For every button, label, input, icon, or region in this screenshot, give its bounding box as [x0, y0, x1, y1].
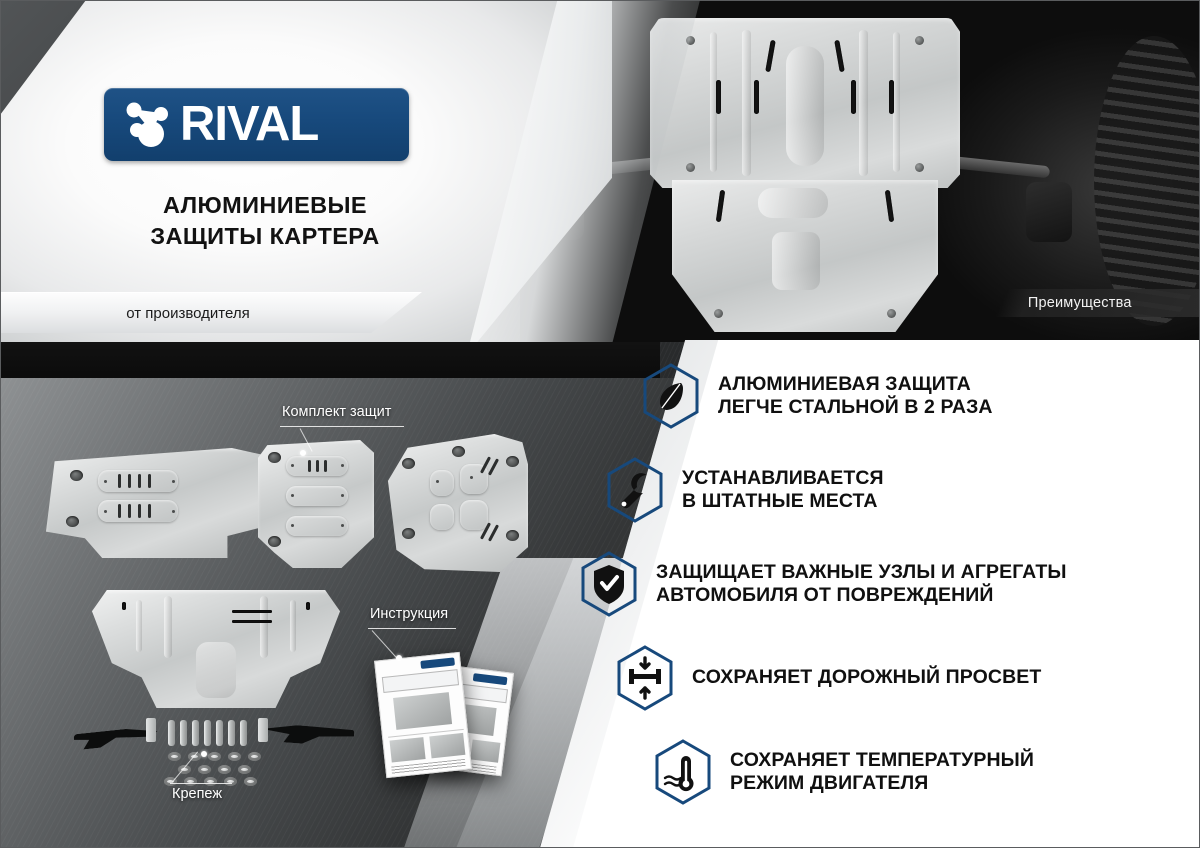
knuckle-right: [1026, 182, 1072, 242]
rival-logo: RIVAL: [104, 88, 409, 161]
header-divider-bar: [0, 342, 660, 380]
installed-skid-plate-rear: [672, 180, 938, 332]
advantage-text-clearance: СОХРАНЯЕТ ДОРОЖНЫЙ ПРОСВЕТ: [692, 666, 1041, 689]
installed-skid-plate-front: [650, 18, 960, 188]
advantage-line-1: ЗАЩИЩАЕТ ВАЖНЫЕ УЗЛЫ И АГРЕГАТЫ: [656, 561, 1067, 584]
promo-banner: Преимущества RIVAL АЛЮМИНИЕВЫЕ ЗАЩИТЫ: [0, 0, 1200, 848]
tyre-detail: [1094, 36, 1200, 326]
skid-plate-large-left: [46, 448, 262, 558]
advantage-line-2: В ШТАТНЫЕ МЕСТА: [682, 490, 884, 513]
callout-instruction-label: Инструкция: [370, 606, 448, 622]
advantage-line-2: РЕЖИМ ДВИГАТЕЛЯ: [730, 772, 1034, 795]
callout-fasteners-label: Крепеж: [172, 786, 222, 802]
vehicle-underbody-photo: Преимущества: [520, 0, 1200, 342]
advantage-item-protection: ЗАЩИЩАЕТ ВАЖНЫЕ УЗЛЫ И АГРЕГАТЫ АВТОМОБИ…: [578, 550, 1200, 618]
subtitle-text: от производителя: [0, 305, 376, 322]
advantage-text-protection: ЗАЩИЩАЕТ ВАЖНЫЕ УЗЛЫ И АГРЕГАТЫ АВТОМОБИ…: [656, 561, 1067, 608]
advantage-line-2: АВТОМОБИЛЯ ОТ ПОВРЕЖДЕНИЙ: [656, 584, 1067, 607]
molecule-icon: [120, 97, 178, 153]
advantage-item-weight: АЛЮМИНИЕВАЯ ЗАЩИТА ЛЕГЧЕ СТАЛЬНОЙ В 2 РА…: [640, 362, 1200, 430]
rival-logo-text: RIVAL: [180, 100, 318, 149]
skid-plate-main-bottom: [92, 590, 340, 708]
advantage-item-clearance: СОХРАНЯЕТ ДОРОЖНЫЙ ПРОСВЕТ: [614, 644, 1200, 712]
page-title: АЛЮМИНИЕВЫЕ ЗАЩИТЫ КАРТЕРА: [0, 190, 530, 252]
advantage-line-1: СОХРАНЯЕТ ДОРОЖНЫЙ ПРОСВЕТ: [692, 666, 1041, 689]
page-title-line-1: АЛЮМИНИЕВЫЕ: [0, 190, 530, 221]
shield-check-icon: [578, 550, 640, 618]
page-title-line-2: ЗАЩИТЫ КАРТЕРА: [0, 221, 530, 252]
advantage-line-2: ЛЕГЧЕ СТАЛЬНОЙ В 2 РАЗА: [718, 396, 993, 419]
advantage-line-1: СОХРАНЯЕТ ТЕМПЕРАТУРНЫЙ: [730, 749, 1034, 772]
ground-clearance-icon: [614, 644, 676, 712]
wrench-icon: [604, 456, 666, 524]
advantage-text-install: УСТАНАВЛИВАЕТСЯ В ШТАТНЫЕ МЕСТА: [682, 467, 884, 514]
advantages-ribbon: Преимущества: [995, 289, 1200, 317]
skid-plate-right: [388, 434, 528, 572]
advantage-text-weight: АЛЮМИНИЕВАЯ ЗАЩИТА ЛЕГЧЕ СТАЛЬНОЙ В 2 РА…: [718, 373, 993, 420]
thermometer-icon: [652, 738, 714, 806]
advantages-list: АЛЮМИНИЕВАЯ ЗАЩИТА ЛЕГЧЕ СТАЛЬНОЙ В 2 РА…: [640, 362, 1200, 832]
skid-plate-centre: [258, 440, 374, 568]
fastener-kit: [146, 718, 296, 790]
advantage-item-install: УСТАНАВЛИВАЕТСЯ В ШТАТНЫЕ МЕСТА: [604, 456, 1200, 524]
advantages-ribbon-label: Преимущества: [1028, 295, 1132, 311]
advantage-item-temperature: СОХРАНЯЕТ ТЕМПЕРАТУРНЫЙ РЕЖИМ ДВИГАТЕЛЯ: [652, 738, 1200, 806]
leaf-icon: [640, 362, 702, 430]
advantage-line-1: УСТАНАВЛИВАЕТСЯ: [682, 467, 884, 490]
advantage-text-temperature: СОХРАНЯЕТ ТЕМПЕРАТУРНЫЙ РЕЖИМ ДВИГАТЕЛЯ: [730, 749, 1034, 796]
advantage-line-1: АЛЮМИНИЕВАЯ ЗАЩИТА: [718, 373, 993, 396]
callout-kit-label: Комплект защит: [282, 404, 391, 420]
instruction-sheet-front: [374, 652, 472, 778]
subtitle-band: от производителя: [0, 292, 422, 333]
